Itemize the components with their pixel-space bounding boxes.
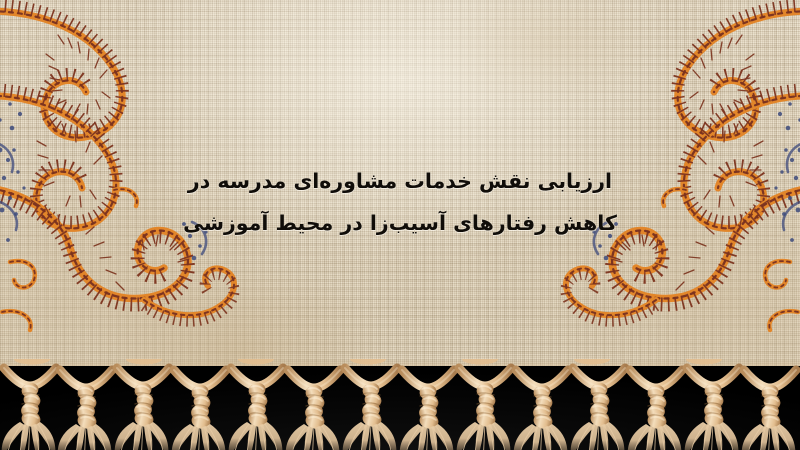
title-line-1: ارزیابی نقش خدمات مشاوره‌ای مدرسه در [0, 160, 800, 202]
page-title: ارزیابی نقش خدمات مشاوره‌ای مدرسه در کاه… [0, 160, 800, 244]
title-card-canvas: ارزیابی نقش خدمات مشاوره‌ای مدرسه در کاه… [0, 0, 800, 450]
black-backdrop-band [0, 366, 800, 450]
title-line-2: کاهش رفتارهای آسیب‌زا در محیط آموزشی [0, 202, 800, 244]
